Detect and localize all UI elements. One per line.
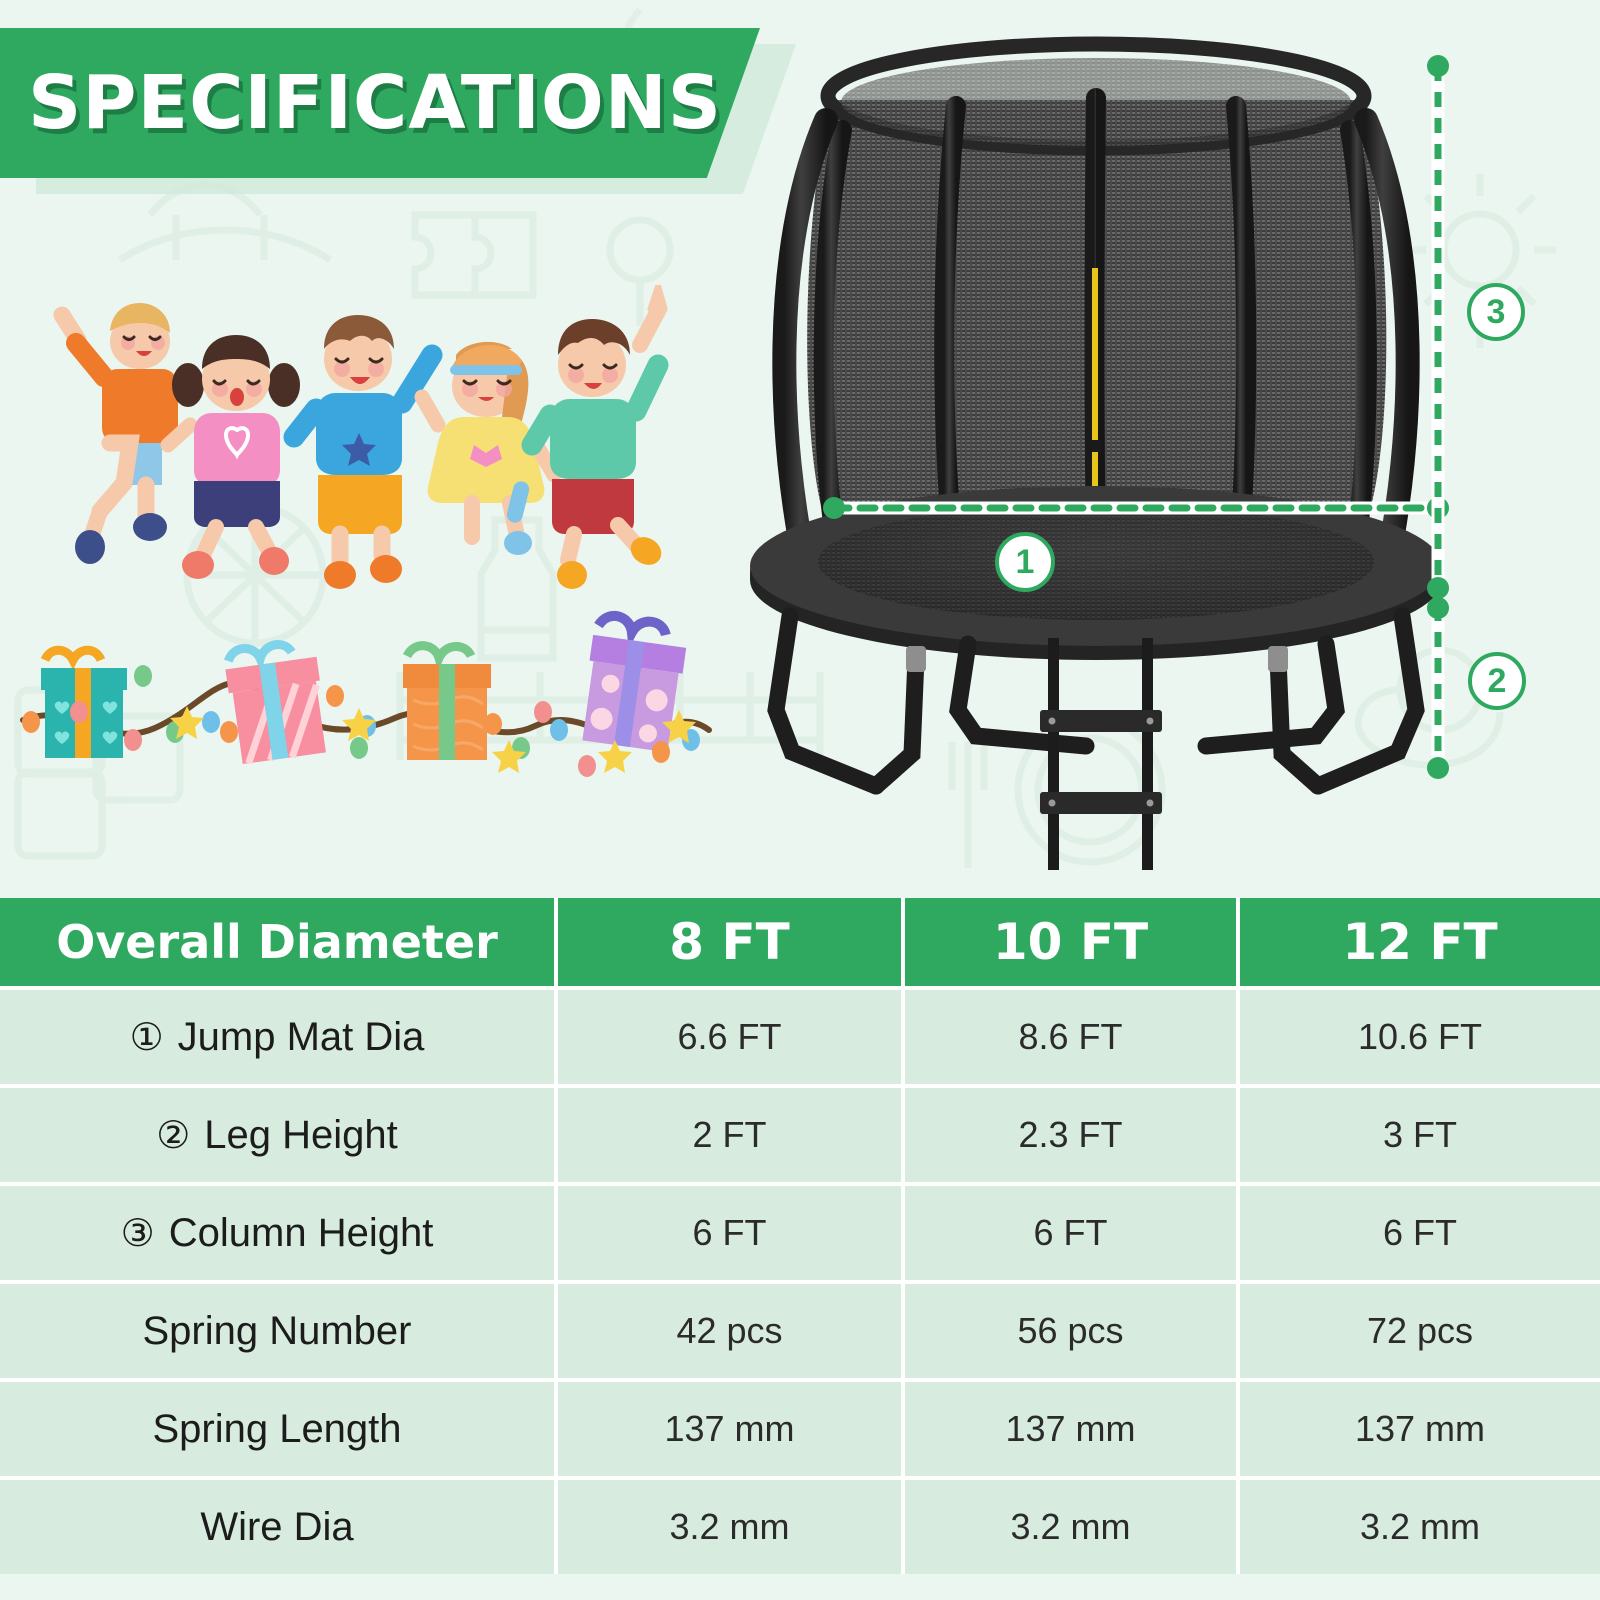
row-value-12ft: 6 FT — [1240, 1186, 1600, 1280]
table-row: Spring Length 137 mm 137 mm 137 mm — [0, 1378, 1600, 1476]
table-header-row: Overall Diameter 8 FT 10 FT 12 FT — [0, 898, 1600, 986]
row-label: Column Height — [169, 1211, 434, 1256]
kid-girl-pink — [168, 335, 300, 579]
row-value-10ft: 56 pcs — [905, 1284, 1240, 1378]
table-row: ③ Column Height 6 FT 6 FT 6 FT — [0, 1182, 1600, 1280]
kid-boy-orange — [62, 303, 178, 564]
row-value-10ft: 3.2 mm — [905, 1480, 1240, 1574]
callout-badge-1: 1 — [995, 532, 1055, 592]
row-value-8ft: 2 FT — [558, 1088, 905, 1182]
row-marker-icon: ② — [156, 1113, 190, 1158]
page-title: SPECIFICATIONS — [28, 60, 722, 146]
row-label: Spring Number — [142, 1309, 411, 1354]
specifications-banner: SPECIFICATIONS — [0, 28, 820, 188]
row-label-cell: ① Jump Mat Dia — [0, 990, 558, 1084]
row-value-8ft: 6.6 FT — [558, 990, 905, 1084]
gift-orange — [403, 646, 491, 760]
kids-illustration — [40, 285, 700, 615]
specifications-table: Overall Diameter 8 FT 10 FT 12 FT ① Jump… — [0, 898, 1600, 1600]
row-marker-icon: ① — [130, 1015, 164, 1060]
row-value-10ft: 6 FT — [905, 1186, 1240, 1280]
row-value-12ft: 72 pcs — [1240, 1284, 1600, 1378]
row-value-12ft: 137 mm — [1240, 1382, 1600, 1476]
row-label: Leg Height — [204, 1113, 397, 1158]
row-value-8ft: 137 mm — [558, 1382, 905, 1476]
trampoline-product-photo — [730, 10, 1520, 870]
row-label-cell: ③ Column Height — [0, 1186, 558, 1280]
row-value-8ft: 42 pcs — [558, 1284, 905, 1378]
row-label: Jump Mat Dia — [178, 1015, 425, 1060]
row-value-10ft: 8.6 FT — [905, 990, 1240, 1084]
ladder — [1040, 638, 1162, 870]
row-value-12ft: 3 FT — [1240, 1088, 1600, 1182]
row-marker-icon: ③ — [121, 1211, 155, 1256]
table-row: Wire Dia 3.2 mm 3.2 mm 3.2 mm — [0, 1476, 1600, 1574]
row-value-10ft: 2.3 FT — [905, 1088, 1240, 1182]
callout-badge-3: 3 — [1467, 283, 1525, 341]
row-label: Wire Dia — [200, 1505, 353, 1550]
callout-badge-2: 2 — [1468, 652, 1526, 710]
banner-shape: SPECIFICATIONS — [0, 28, 760, 178]
kid-boy-green — [532, 291, 666, 589]
header-cell-12ft: 12 FT — [1240, 898, 1600, 986]
table-row: ① Jump Mat Dia 6.6 FT 8.6 FT 10.6 FT — [0, 986, 1600, 1084]
header-cell-10ft: 10 FT — [905, 898, 1240, 986]
row-value-8ft: 3.2 mm — [558, 1480, 905, 1574]
row-label-cell: Spring Length — [0, 1382, 558, 1476]
kid-boy-blue — [294, 315, 432, 589]
row-label-cell: Spring Number — [0, 1284, 558, 1378]
row-value-8ft: 6 FT — [558, 1186, 905, 1280]
row-label: Spring Length — [152, 1407, 401, 1452]
row-label-cell: ② Leg Height — [0, 1088, 558, 1182]
header-cell-8ft: 8 FT — [558, 898, 905, 986]
row-value-12ft: 3.2 mm — [1240, 1480, 1600, 1574]
gift-pink-stripes — [223, 639, 330, 765]
row-value-10ft: 137 mm — [905, 1382, 1240, 1476]
row-value-12ft: 10.6 FT — [1240, 990, 1600, 1084]
table-row: Spring Number 42 pcs 56 pcs 72 pcs — [0, 1280, 1600, 1378]
header-cell-overall-diameter: Overall Diameter — [0, 898, 558, 986]
gift-boxes-illustration — [15, 600, 715, 800]
row-label-cell: Wire Dia — [0, 1480, 558, 1574]
table-row: ② Leg Height 2 FT 2.3 FT 3 FT — [0, 1084, 1600, 1182]
